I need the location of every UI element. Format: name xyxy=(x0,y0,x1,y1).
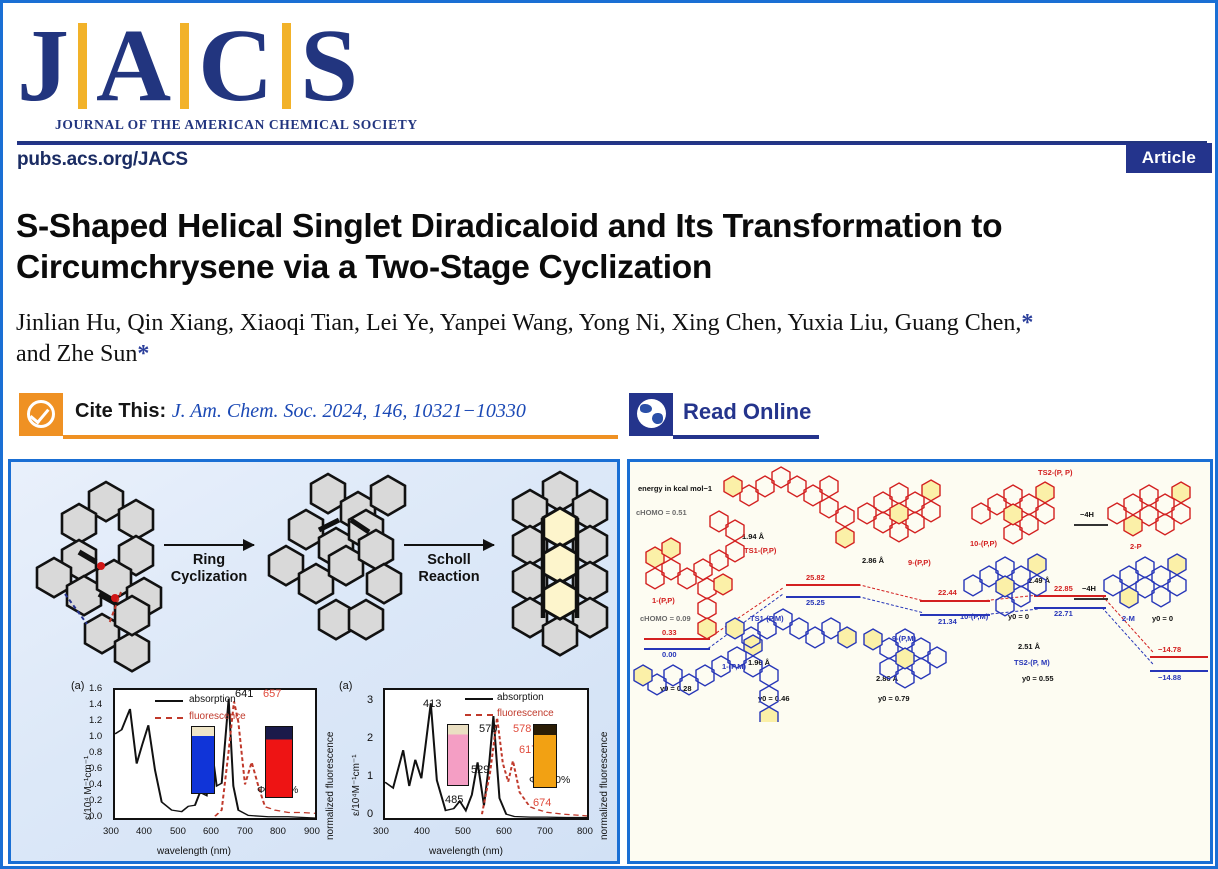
chart-b-ylabel: ε/10⁴M⁻¹cm⁻¹ xyxy=(351,754,362,816)
chart-b-xlabel: wavelength (nm) xyxy=(429,846,503,857)
logo-divider-bar xyxy=(282,23,291,109)
check-circle-icon xyxy=(19,393,63,436)
level-9-PP xyxy=(920,600,990,602)
energy-value-1-PM: 0.00 xyxy=(662,650,677,659)
chart-a-ytick: 1.6 xyxy=(89,683,102,694)
chart-b-cuvette-pink xyxy=(447,724,469,786)
toc-right-panel: energy in kcal mol−1 cHOMO = 0.51 cHOMO … xyxy=(627,459,1213,864)
chart-a-xtick: 700 xyxy=(237,826,253,837)
label-TS2-PM: TS2-(P, M) xyxy=(1014,658,1050,667)
distance-TS1-PP: 1.94 Å xyxy=(742,532,764,541)
y0-1-PM: y0 = 0.28 xyxy=(660,684,692,693)
y0-10-PM: y0 = 0 xyxy=(1008,612,1029,621)
logo-letter-j: J xyxy=(17,17,69,115)
pubs-url[interactable]: pubs.acs.org/JACS xyxy=(17,149,188,171)
chart-a-ytick: 0.4 xyxy=(89,779,102,790)
toc-graphic-page: J A C S JOURNAL OF THE AMERICAN CHEMICAL… xyxy=(0,0,1218,869)
author-list: Jinlian Hu, Qin Xiang, Xiaoqi Tian, Lei … xyxy=(16,308,1191,370)
distance-TS1-PM: 1.96 Å xyxy=(748,658,770,667)
toc-left-panel: Ring Cyclization Scholl xyxy=(8,459,620,864)
label-1-PP: 1-(P,P) xyxy=(652,596,675,605)
chart-a-legend-line-dashed xyxy=(155,717,183,719)
chart-a-panel-label: (a) xyxy=(71,680,84,692)
absorption-fluorescence-chart-a: (a) ε/10⁴ M⁻¹cm⁻¹ normalized fluorescenc… xyxy=(69,680,339,860)
label-TS1-PM: TS1-(P,M) xyxy=(750,614,784,623)
energy-units-note: energy in kcal mol−1 xyxy=(638,484,712,493)
chart-a-ytick: 1.0 xyxy=(89,731,102,742)
chart-a-ytick: 1.2 xyxy=(89,715,102,726)
y0-TS1-PM: y0 = 0.46 xyxy=(758,694,790,703)
chart-b-peak-570: 570 xyxy=(479,723,497,735)
connector-9-to-TS2-red xyxy=(986,595,1038,601)
logo-letter-c: C xyxy=(198,17,273,115)
chart-b-ytick: 3 xyxy=(367,694,373,706)
chomo-low-label: cHOMO = 0.09 xyxy=(640,614,691,623)
chart-b-cuvette-orange xyxy=(533,724,557,788)
chart-a-cuvette-blue xyxy=(191,726,215,794)
chart-b-ytick: 2 xyxy=(367,732,373,744)
energy-diagram-structures xyxy=(630,462,1210,722)
cite-label: Cite This: xyxy=(75,400,166,422)
cite-this-bar[interactable]: Cite This: J. Am. Chem. Soc. 2024, 146, … xyxy=(19,393,619,440)
label-TS2-PP: TS2-(P, P) xyxy=(1038,468,1072,477)
chart-a-xtick: 400 xyxy=(136,826,152,837)
energy-value-10-PM: −14.88 xyxy=(1158,673,1181,682)
chart-a-xtick: 600 xyxy=(203,826,219,837)
energy-value-TS1-PM: 25.25 xyxy=(806,598,825,607)
chart-a-xtick: 800 xyxy=(270,826,286,837)
globe-icon xyxy=(629,393,673,436)
logo-letter-a: A xyxy=(96,17,171,115)
connector-TS2-to-10-red xyxy=(1102,595,1154,652)
chart-a-xlabel: wavelength (nm) xyxy=(157,846,231,857)
level-10-PM-final xyxy=(1150,670,1208,672)
chart-b-xtick: 800 xyxy=(577,826,593,837)
jacs-logo: J A C S JOURNAL OF THE AMERICAN CHEMICAL… xyxy=(17,17,417,137)
energy-value-1-PP: 0.33 xyxy=(662,628,677,637)
chart-b-legend-line-dashed xyxy=(465,714,493,716)
distance-TS2-PP: 2.49 Å xyxy=(1028,576,1050,585)
chart-b-peak-485: 485 xyxy=(445,794,463,806)
energy-value-TS1-PP: 25.82 xyxy=(806,573,825,582)
cite-reference[interactable]: J. Am. Chem. Soc. 2024, 146, 10321−10330 xyxy=(172,400,526,422)
arrow-label-line1: Scholl xyxy=(427,552,471,568)
author-names: Jinlian Hu, Qin Xiang, Xiaoqi Tian, Lei … xyxy=(16,310,1021,336)
chart-a-legend-fluorescence: fluorescence xyxy=(189,711,246,722)
absorption-fluorescence-chart-b: (a) ε/10⁴M⁻¹cm⁻¹ normalized fluorescence… xyxy=(337,680,612,860)
y0-TS2-PM: y0 = 0.55 xyxy=(1022,674,1054,683)
chart-a-legend-line-solid xyxy=(155,700,183,702)
read-online-label: Read Online xyxy=(683,399,811,425)
label-10-PP: 10-(P,P) xyxy=(970,539,997,548)
y0-2-M: y0 = 0 xyxy=(1152,614,1173,623)
label-9-PP: 9-(P,P) xyxy=(908,558,931,567)
y0-9-PM: y0 = 0.79 xyxy=(878,694,910,703)
chart-b-peak-413: 413 xyxy=(423,698,441,710)
chart-b-ylabel-right: normalized fluorescence xyxy=(599,732,610,840)
level-1-PM xyxy=(644,648,710,650)
chart-b-xtick: 400 xyxy=(414,826,430,837)
chart-b-peak-674: 674 xyxy=(533,797,551,809)
chart-b-xtick: 700 xyxy=(537,826,553,837)
chart-a-ytick: 0.2 xyxy=(89,795,102,806)
label-10-PM: 10-(P,M) xyxy=(960,612,988,621)
distance-9-PP: 2.86 Å xyxy=(862,556,884,565)
logo-divider-bar xyxy=(180,23,189,109)
label-2-M: 2-M xyxy=(1122,614,1135,623)
chart-a-xtick: 300 xyxy=(103,826,119,837)
energy-value-TS2-PM: 22.71 xyxy=(1054,609,1073,618)
energy-value-TS2-PP: 22.85 xyxy=(1054,584,1073,593)
chart-a-ytick: 0.6 xyxy=(89,763,102,774)
chart-b-xtick: 300 xyxy=(373,826,389,837)
cite-underline xyxy=(63,435,618,439)
level-10-PP-final xyxy=(1150,656,1208,658)
level-TS1-PP xyxy=(786,584,860,586)
label-9-PM: 9-(P,M) xyxy=(892,634,916,643)
journal-subtitle: JOURNAL OF THE AMERICAN CHEMICAL SOCIETY xyxy=(55,117,417,133)
read-online-underline xyxy=(673,435,819,439)
dehydrogenation-label-bottom: −4H xyxy=(1082,584,1096,593)
label-1-PM: 1-(P,M) xyxy=(722,662,746,671)
chart-b-plot-area xyxy=(383,688,589,820)
chart-a-legend-absorption: absorption xyxy=(189,694,236,705)
level-TS2-PP xyxy=(1034,595,1106,597)
step-arrow-scholl-reaction: Scholl Reaction xyxy=(399,544,499,586)
logo-divider-bar xyxy=(78,23,87,109)
chart-a-ylabel-right: normalized fluorescence xyxy=(325,732,336,840)
badge-rule xyxy=(17,143,1212,145)
logo-letter-s: S xyxy=(300,17,358,115)
chart-b-legend-absorption: absorption xyxy=(497,692,544,703)
chart-a-peak-657: 657 xyxy=(263,688,281,700)
chart-a-ytick: 0.8 xyxy=(89,747,102,758)
dehydro-arrow-top xyxy=(1074,524,1108,526)
cite-this-text: Cite This: J. Am. Chem. Soc. 2024, 146, … xyxy=(75,400,526,423)
chart-a-xtick: 500 xyxy=(170,826,186,837)
journal-masthead: J A C S JOURNAL OF THE AMERICAN CHEMICAL… xyxy=(3,3,1218,188)
energy-value-10-PP: −14.78 xyxy=(1158,645,1181,654)
level-1-PP xyxy=(644,638,710,640)
chart-b-legend-fluorescence: fluorescence xyxy=(497,708,554,719)
article-type-badge: Article xyxy=(1126,144,1212,173)
chart-b-ytick: 0 xyxy=(367,808,373,820)
energy-value-9-PP: 22.44 xyxy=(938,588,957,597)
chart-b-panel-label: (a) xyxy=(339,680,352,692)
distance-9-PM: 2.86 Å xyxy=(876,674,898,683)
label-TS1-PP: TS1-(P,P) xyxy=(744,546,776,555)
chomo-high-label: cHOMO = 0.51 xyxy=(636,508,687,517)
read-online-button[interactable]: Read Online xyxy=(629,393,819,440)
chart-b-ytick: 1 xyxy=(367,770,373,782)
arrow-label-line2: Reaction xyxy=(418,569,479,585)
chart-a-ytick: 1.4 xyxy=(89,699,102,710)
chart-a-cuvette-red xyxy=(265,726,293,798)
chart-b-legend-line-solid xyxy=(465,698,493,700)
chart-b-xtick: 500 xyxy=(455,826,471,837)
label-2-P: 2-P xyxy=(1130,542,1142,551)
energy-value-9-PM: 21.34 xyxy=(938,617,957,626)
step-arrow-ring-cyclization: Ring Cyclization xyxy=(159,544,259,586)
molecule-circumchrysene xyxy=(497,470,627,660)
chart-a-xtick: 900 xyxy=(304,826,320,837)
distance-TS2-PM: 2.51 Å xyxy=(1018,642,1040,651)
dehydrogenation-label-top: −4H xyxy=(1080,510,1094,519)
page-title: S-Shaped Helical Singlet Diradicaloid an… xyxy=(16,206,1176,288)
chart-b-peak-529: 529 xyxy=(471,764,489,776)
arrow-label-line2: Cyclization xyxy=(171,569,248,585)
chart-b-xtick: 600 xyxy=(496,826,512,837)
dehydro-arrow-bottom xyxy=(1074,598,1108,600)
author-names-2: and Zhe Sun xyxy=(16,341,137,367)
chart-a-ytick: 0.0 xyxy=(89,811,102,822)
chart-a-peak-641: 641 xyxy=(235,688,253,700)
arrow-label-line1: Ring xyxy=(193,552,225,568)
chart-b-peak-578: 578 xyxy=(513,723,531,735)
